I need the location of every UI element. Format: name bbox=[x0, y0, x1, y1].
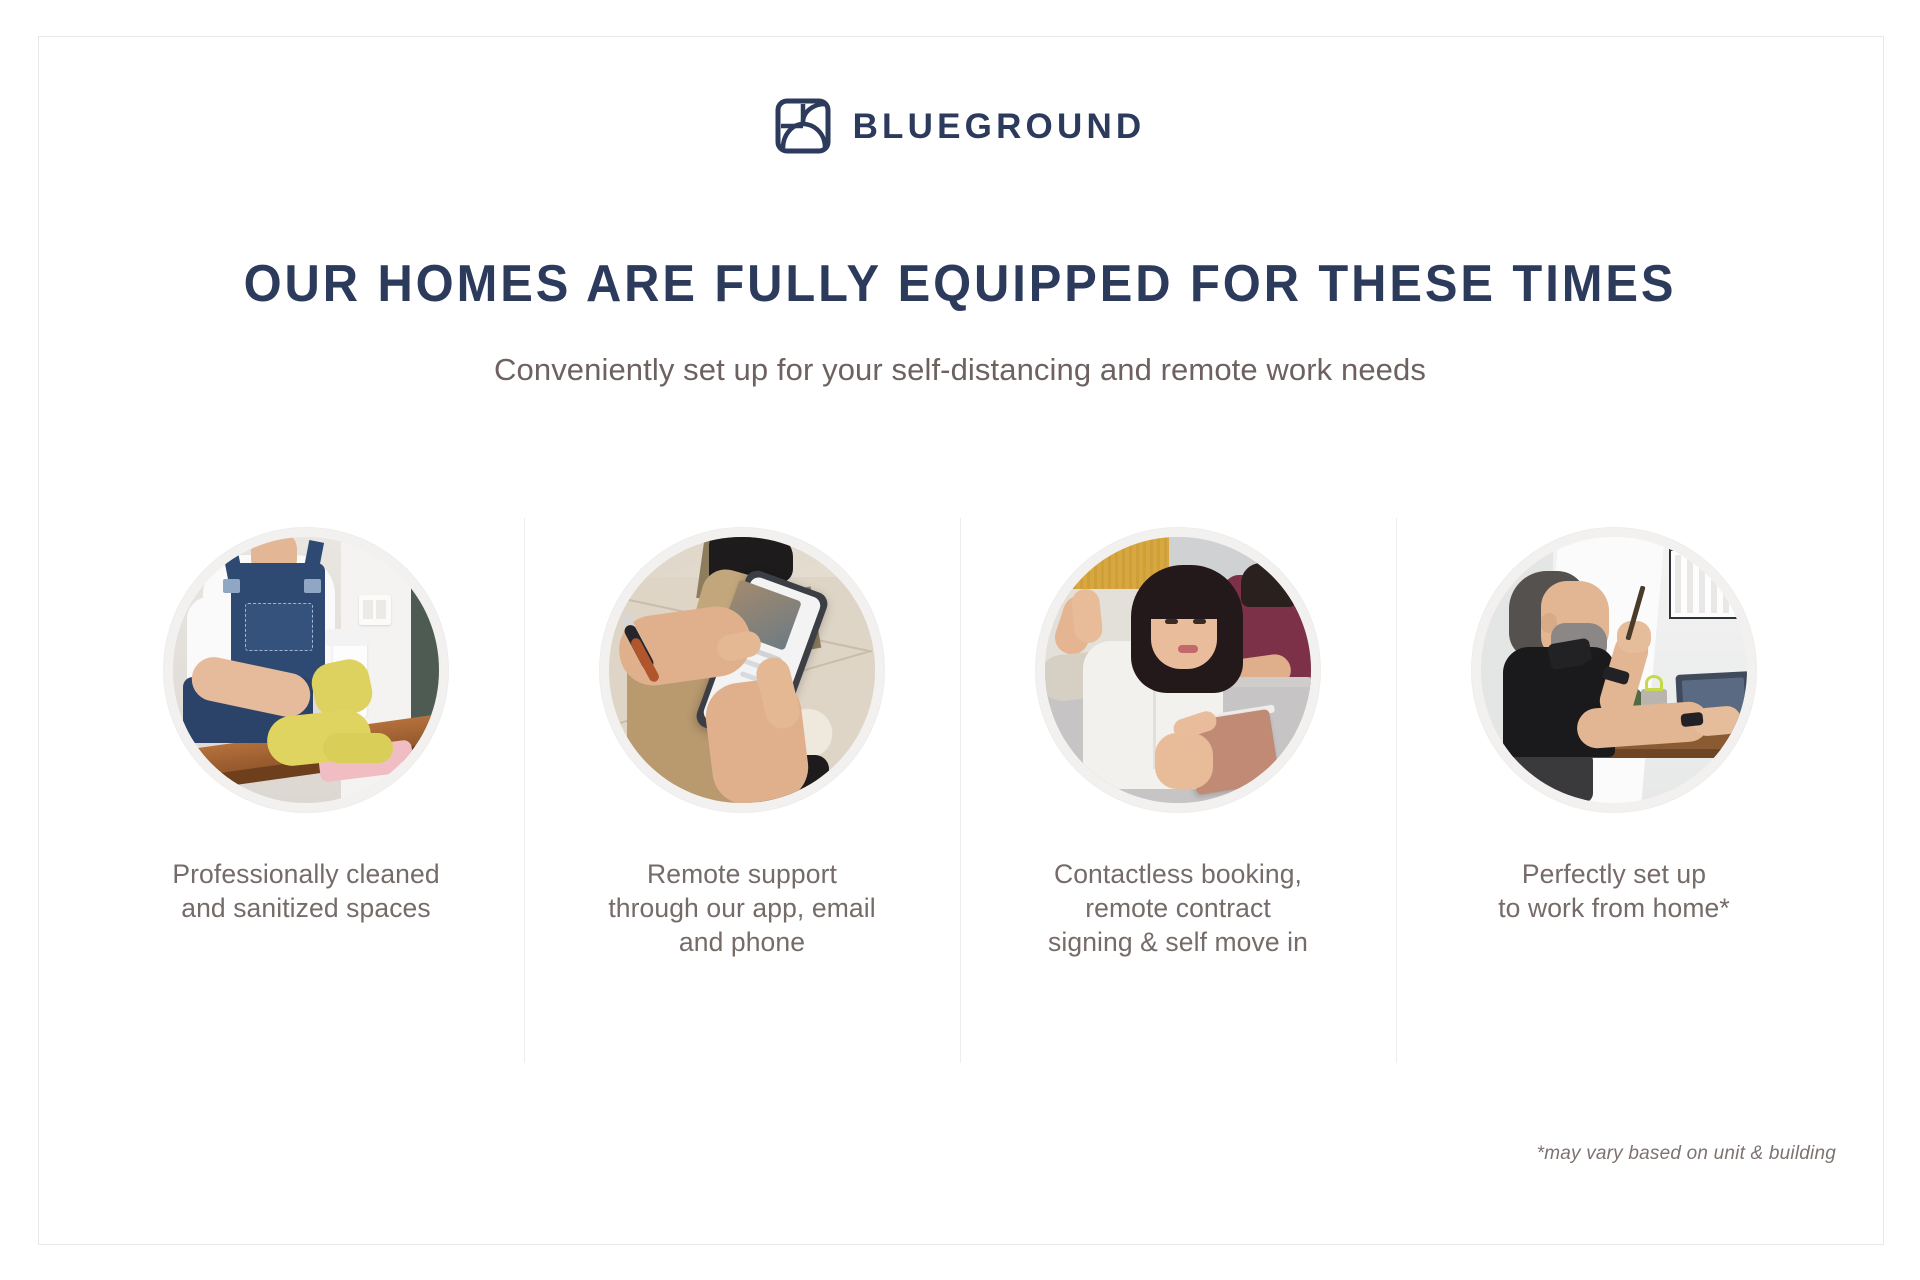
contactless-booking-photo bbox=[1035, 527, 1321, 813]
feature-caption: Professionally cleaned and sanitized spa… bbox=[172, 857, 439, 925]
remote-support-photo bbox=[599, 527, 885, 813]
feature-caption: Remote support through our app, email an… bbox=[608, 857, 875, 960]
brand-wordmark: BLUEGROUND bbox=[853, 109, 1146, 144]
feature-caption: Contactless booking, remote contract sig… bbox=[1048, 857, 1308, 960]
feature-column-work-from-home: Perfectly set up to work from home* bbox=[1396, 518, 1832, 1063]
feature-columns: Professionally cleaned and sanitized spa… bbox=[88, 518, 1832, 1063]
page-title: OUR HOMES ARE FULLY EQUIPPED FOR THESE T… bbox=[58, 254, 1863, 314]
feature-column-cleaning: Professionally cleaned and sanitized spa… bbox=[88, 518, 524, 1063]
feature-caption: Perfectly set up to work from home* bbox=[1498, 857, 1730, 925]
footnote-disclaimer: *may vary based on unit & building bbox=[1537, 1143, 1836, 1165]
promo-page: BLUEGROUND OUR HOMES ARE FULLY EQUIPPED … bbox=[0, 0, 1920, 1280]
blueground-square-logo-icon bbox=[775, 98, 831, 154]
work-from-home-photo bbox=[1471, 527, 1757, 813]
feature-column-contactless-booking: Contactless booking, remote contract sig… bbox=[960, 518, 1396, 1063]
feature-column-remote-support: Remote support through our app, email an… bbox=[524, 518, 960, 1063]
cleaning-photo bbox=[163, 527, 449, 813]
brand-logo: BLUEGROUND bbox=[0, 98, 1920, 154]
page-subtitle: Conveniently set up for your self-distan… bbox=[0, 352, 1920, 388]
